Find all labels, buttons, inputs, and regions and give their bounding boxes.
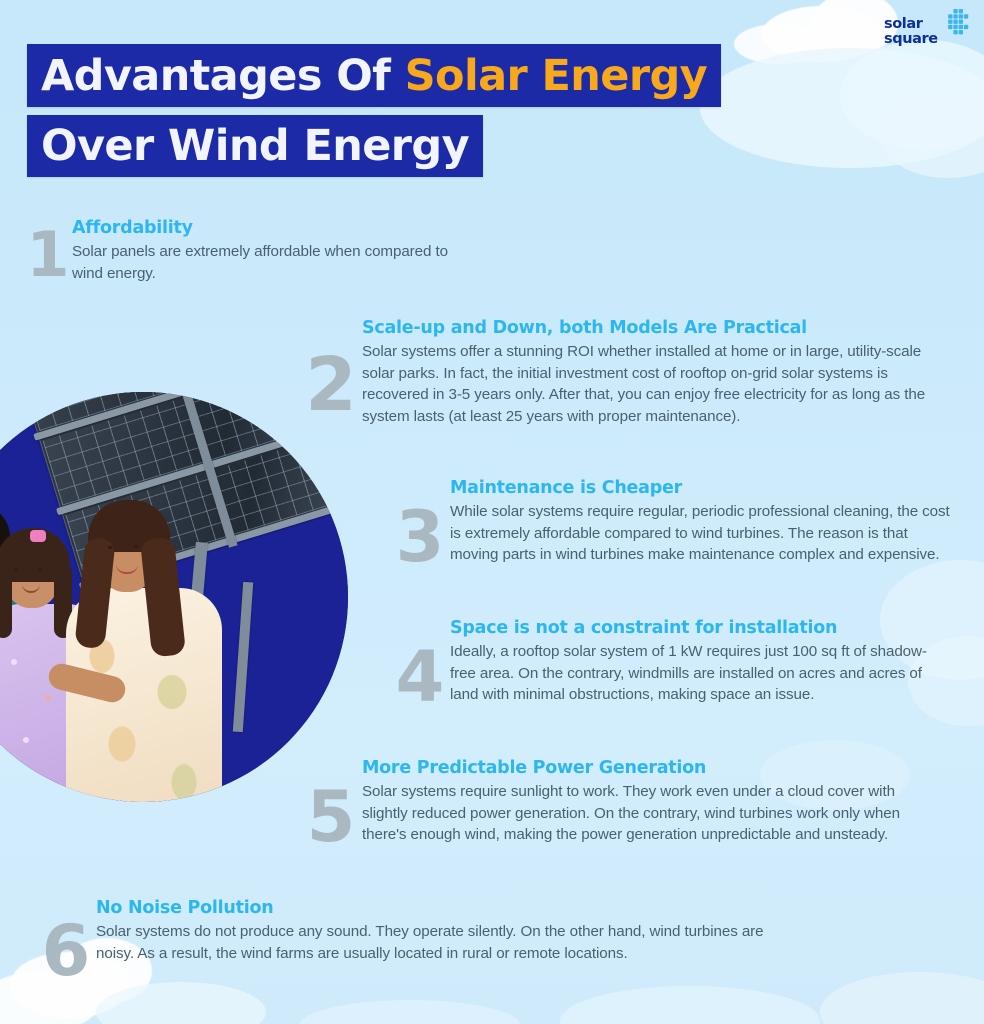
list-item: 2 Scale-up and Down, both Models Are Pra…	[300, 318, 940, 427]
item-number: 2	[300, 348, 362, 422]
item-number: 1	[24, 224, 72, 286]
list-item: 4 Space is not a constraint for installa…	[390, 618, 950, 712]
title-line-1: Advantages Of Solar Energy	[41, 54, 707, 98]
logo-line-2: square	[884, 32, 946, 47]
logo-wordmark: solar square	[884, 17, 946, 46]
title-prefix: Advantages Of	[41, 51, 405, 101]
item-body: Solar systems offer a stunning ROI wheth…	[362, 341, 940, 427]
title-line-2: Over Wind Energy	[41, 124, 469, 168]
item-heading: More Predictable Power Generation	[362, 758, 940, 779]
item-body: Solar systems require sunlight to work. …	[362, 781, 940, 846]
list-item: 5 More Predictable Power Generation Sola…	[300, 758, 940, 852]
title-banner-line-2: Over Wind Energy	[27, 115, 483, 177]
list-item: 3 Maintenance is Cheaper While solar sys…	[390, 478, 950, 572]
item-heading: Scale-up and Down, both Models Are Pract…	[362, 318, 940, 339]
title-banner-line-1: Advantages Of Solar Energy	[27, 44, 721, 107]
item-number: 5	[300, 782, 362, 852]
item-body: While solar systems require regular, per…	[450, 501, 950, 566]
item-body: Solar systems do not produce any sound. …	[96, 921, 796, 964]
list-item: 6 No Noise Pollution Solar systems do no…	[36, 898, 796, 986]
item-heading: Affordability	[72, 218, 454, 239]
solarsquare-logo[interactable]: solar square	[884, 8, 970, 54]
logo-line-1: solar	[884, 17, 946, 32]
item-heading: Maintenance is Cheaper	[450, 478, 950, 499]
title-highlight: Solar Energy	[405, 51, 707, 101]
item-body: Solar panels are extremely affordable wh…	[72, 241, 454, 284]
list-item: 1 Affordability Solar panels are extreme…	[24, 218, 454, 286]
item-heading: No Noise Pollution	[96, 898, 796, 919]
item-number: 6	[36, 916, 96, 986]
family-solar-photo	[0, 392, 348, 802]
item-number: 4	[390, 642, 450, 712]
infographic-page: solar square Adv	[0, 0, 984, 1024]
item-heading: Space is not a constraint for installati…	[450, 618, 950, 639]
solar-panel-grid-mark-icon	[942, 8, 970, 38]
item-body: Ideally, a rooftop solar system of 1 kW …	[450, 641, 950, 706]
item-number: 3	[390, 502, 450, 572]
